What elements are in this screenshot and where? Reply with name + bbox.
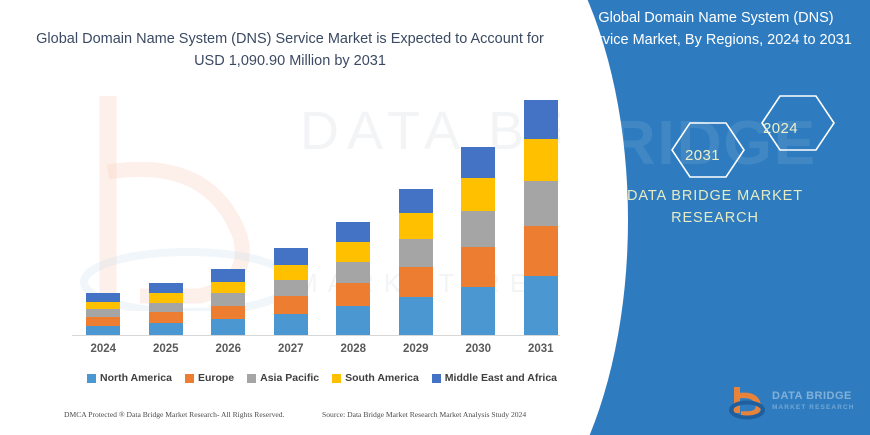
bar-segment xyxy=(399,189,433,214)
bar-segment xyxy=(211,306,245,319)
bar-segment xyxy=(274,314,308,335)
chart-panel: DATA BRIDGE MARKET RESEARCH Global Domai… xyxy=(0,0,600,435)
page-title: Global Domain Name System (DNS) Service … xyxy=(30,28,550,73)
bar-segment xyxy=(274,265,308,280)
legend-item[interactable]: South America xyxy=(332,372,419,384)
footer-copyright: DMCA Protected ® Data Bridge Market Rese… xyxy=(64,410,284,419)
bar-segment xyxy=(149,303,183,313)
bar-segment xyxy=(211,293,245,305)
corner-logo-subtitle: MARKET RESEARCH xyxy=(772,404,855,411)
x-axis-line xyxy=(72,335,572,336)
bar-segment xyxy=(524,226,558,276)
legend-swatch-icon xyxy=(185,374,194,383)
legend-item[interactable]: Middle East and Africa xyxy=(432,372,557,384)
x-axis-tick-2029: 2029 xyxy=(385,343,448,355)
legend-label: Asia Pacific xyxy=(260,372,319,384)
bar-segment xyxy=(524,100,558,139)
x-axis-tick-2024: 2024 xyxy=(72,343,135,355)
bar-segment xyxy=(461,147,495,178)
bar-segment xyxy=(336,283,370,307)
corner-logo-mark xyxy=(728,383,768,421)
hex-2031-label: 2031 xyxy=(685,147,720,164)
legend-item[interactable]: North America xyxy=(87,372,172,384)
legend-label: Middle East and Africa xyxy=(445,372,557,384)
bar-segment xyxy=(86,302,120,310)
hexagon-badges: 2024 2031 xyxy=(630,92,860,182)
x-axis-tick-2026: 2026 xyxy=(197,343,260,355)
bar-segment xyxy=(86,326,120,336)
legend-swatch-icon xyxy=(247,374,256,383)
bar-segment xyxy=(399,213,433,239)
bar-group-2027 xyxy=(260,100,323,335)
footer-source: Source: Data Bridge Market Research Mark… xyxy=(322,410,526,419)
brand-name-line-2: RESEARCH xyxy=(574,210,856,226)
legend-label: Europe xyxy=(198,372,234,384)
bar-segment xyxy=(86,293,120,302)
corner-logo: DATA BRIDGE MARKET RESEARCH xyxy=(728,383,856,423)
bar-segment xyxy=(336,306,370,335)
stacked-bar xyxy=(399,189,433,335)
legend-label: North America xyxy=(100,372,172,384)
legend-swatch-icon xyxy=(432,374,441,383)
bar-segment xyxy=(461,211,495,247)
bar-segment xyxy=(336,242,370,262)
stacked-bar-chart: 20242025202620272028202920302031 xyxy=(72,100,572,336)
bar-group-2024 xyxy=(72,100,135,335)
bar-segment xyxy=(524,276,558,335)
bar-segment xyxy=(461,247,495,287)
panel-title: Global Domain Name System (DNS) Service … xyxy=(578,8,854,52)
bar-group-2026 xyxy=(197,100,260,335)
stacked-bar xyxy=(86,293,120,335)
title-panel: BRIDGE Global Domain Name System (DNS) S… xyxy=(560,0,870,435)
bar-segment xyxy=(149,293,183,303)
legend-swatch-icon xyxy=(332,374,341,383)
bar-group-2025 xyxy=(135,100,198,335)
bar-segment xyxy=(149,283,183,293)
legend-label: South America xyxy=(345,372,419,384)
bar-segment xyxy=(274,248,308,264)
hex-2024-label: 2024 xyxy=(763,120,798,137)
bar-segment xyxy=(211,282,245,293)
bar-segment xyxy=(149,323,183,335)
bar-group-2030 xyxy=(447,100,510,335)
panel-curve-mask xyxy=(560,0,570,435)
x-axis-tick-2028: 2028 xyxy=(322,343,385,355)
bar-group-2029 xyxy=(385,100,448,335)
brand-name-line-1: DATA BRIDGE MARKET xyxy=(574,188,856,204)
x-axis-tick-2030: 2030 xyxy=(447,343,510,355)
legend-item[interactable]: Europe xyxy=(185,372,234,384)
bar-segment xyxy=(211,319,245,335)
legend-swatch-icon xyxy=(87,374,96,383)
bar-segment xyxy=(86,309,120,317)
bar-segment xyxy=(399,239,433,267)
stacked-bar xyxy=(211,269,245,335)
bar-segment xyxy=(274,296,308,314)
bar-segment xyxy=(149,312,183,322)
bar-segment xyxy=(336,262,370,283)
x-axis-tick-2025: 2025 xyxy=(135,343,198,355)
chart-legend: North AmericaEuropeAsia PacificSouth Ame… xyxy=(72,372,572,384)
legend-item[interactable]: Asia Pacific xyxy=(247,372,319,384)
bar-segment xyxy=(399,267,433,297)
bar-segment xyxy=(86,317,120,326)
stacked-bar xyxy=(461,147,495,335)
bar-segment xyxy=(211,269,245,281)
bar-segment xyxy=(461,287,495,335)
stacked-bar xyxy=(149,283,183,335)
stacked-bar xyxy=(524,100,558,335)
bar-segment xyxy=(336,222,370,242)
x-axis-tick-2027: 2027 xyxy=(260,343,323,355)
bar-segment xyxy=(461,178,495,211)
bar-segment xyxy=(399,297,433,335)
stacked-bar xyxy=(336,222,370,335)
infographic-canvas: DATA BRIDGE MARKET RESEARCH Global Domai… xyxy=(0,0,870,435)
stacked-bar xyxy=(274,248,308,335)
bar-segment xyxy=(524,181,558,226)
bar-group-2028 xyxy=(322,100,385,335)
corner-logo-title: DATA BRIDGE xyxy=(772,390,852,402)
bar-segment xyxy=(524,139,558,181)
bar-segment xyxy=(274,280,308,296)
